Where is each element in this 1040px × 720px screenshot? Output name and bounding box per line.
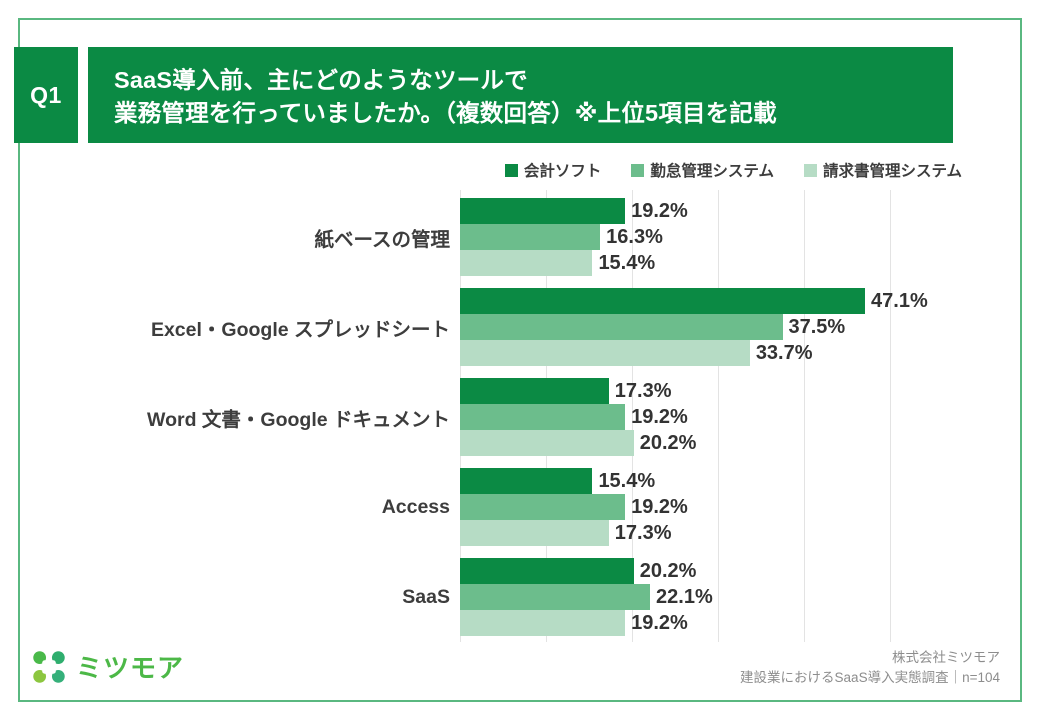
question-line-1: SaaS導入前、主にどのようなツールで (114, 64, 953, 97)
question-line-2: 業務管理を行っていましたか。（複数回答）※上位5項目を記載 (114, 97, 953, 130)
legend-label: 会計ソフト (524, 159, 602, 181)
bar-group: 19.2%16.3%15.4% (460, 198, 930, 276)
category-label: 紙ベースの管理 (314, 223, 450, 252)
bar-value-label: 20.2% (640, 432, 697, 455)
bar-group: 15.4%19.2%17.3% (460, 468, 930, 546)
legend-label: 請求書管理システム (823, 159, 962, 181)
category-label: Access (382, 496, 450, 519)
plot-area: 19.2%16.3%15.4%47.1%37.5%33.7%17.3%19.2%… (460, 190, 930, 642)
bar-row[interactable]: 19.2% (460, 198, 930, 224)
category-label-group: 紙ベースの管理 (60, 198, 450, 276)
bar[interactable] (460, 520, 609, 546)
legend-swatch-icon (505, 164, 518, 177)
chart-legend: 会計ソフト勤怠管理システム請求書管理システム (0, 159, 1040, 181)
bar-row[interactable]: 16.3% (460, 224, 930, 250)
category-label: SaaS (402, 586, 450, 609)
bar-row[interactable]: 20.2% (460, 430, 930, 456)
bar-row[interactable]: 15.4% (460, 250, 930, 276)
bar[interactable] (460, 468, 592, 494)
bar[interactable] (460, 198, 625, 224)
bar-value-label: 17.3% (615, 522, 672, 545)
category-axis-labels: 紙ベースの管理Excel・Google スプレッドシートWord 文書・Goog… (60, 190, 450, 642)
bar-value-label: 22.1% (656, 586, 713, 609)
bar-value-label: 19.2% (631, 612, 688, 635)
source-note: 株式会社ミツモア 建設業におけるSaaS導入実態調査｜n=104 (740, 648, 1000, 688)
legend-item[interactable]: 勤怠管理システム (631, 159, 774, 181)
bar[interactable] (460, 340, 750, 366)
bar-group: 47.1%37.5%33.7% (460, 288, 930, 366)
category-label: Excel・Google スプレッドシート (151, 313, 450, 342)
logo-wordmark: ミツモア (76, 648, 184, 685)
legend-label: 勤怠管理システム (650, 159, 774, 181)
company-logo: ミツモア (32, 648, 184, 685)
bar[interactable] (460, 610, 625, 636)
bar-value-label: 15.4% (598, 252, 655, 275)
bar-group: 17.3%19.2%20.2% (460, 378, 930, 456)
bar-row[interactable]: 37.5% (460, 314, 930, 340)
bar-row[interactable]: 22.1% (460, 584, 930, 610)
question-number-label: Q1 (30, 82, 62, 109)
category-label-group: Excel・Google スプレッドシート (60, 288, 450, 366)
bar-row[interactable]: 19.2% (460, 494, 930, 520)
legend-swatch-icon (804, 164, 817, 177)
question-title-box: SaaS導入前、主にどのようなツールで 業務管理を行っていましたか。（複数回答）… (88, 47, 953, 143)
bar-row[interactable]: 17.3% (460, 520, 930, 546)
bar[interactable] (460, 224, 600, 250)
bar-value-label: 33.7% (756, 342, 813, 365)
bar[interactable] (460, 430, 634, 456)
bar-value-label: 37.5% (789, 316, 846, 339)
category-label-group: Word 文書・Google ドキュメント (60, 378, 450, 456)
bar-row[interactable]: 19.2% (460, 404, 930, 430)
legend-item[interactable]: 請求書管理システム (804, 159, 962, 181)
bar[interactable] (460, 378, 609, 404)
source-company: 株式会社ミツモア (740, 648, 1000, 668)
bar-row[interactable]: 19.2% (460, 610, 930, 636)
category-label-group: SaaS (60, 558, 450, 636)
bar[interactable] (460, 288, 865, 314)
question-number-badge: Q1 (14, 47, 78, 143)
bar-group: 20.2%22.1%19.2% (460, 558, 930, 636)
bar-row[interactable]: 20.2% (460, 558, 930, 584)
bar[interactable] (460, 584, 650, 610)
source-survey: 建設業におけるSaaS導入実態調査｜n=104 (740, 668, 1000, 688)
bar[interactable] (460, 494, 625, 520)
bar-value-label: 20.2% (640, 560, 697, 583)
bar-value-label: 19.2% (631, 406, 688, 429)
bar-row[interactable]: 47.1% (460, 288, 930, 314)
bar-value-label: 47.1% (871, 290, 928, 313)
legend-item[interactable]: 会計ソフト (505, 159, 602, 181)
legend-swatch-icon (631, 164, 644, 177)
mitsumore-logo-icon (32, 650, 66, 684)
category-label-group: Access (60, 468, 450, 546)
bar[interactable] (460, 250, 592, 276)
category-label: Word 文書・Google ドキュメント (147, 403, 450, 432)
bar-row[interactable]: 15.4% (460, 468, 930, 494)
bar-value-label: 16.3% (606, 226, 663, 249)
bar-value-label: 19.2% (631, 200, 688, 223)
bar-row[interactable]: 33.7% (460, 340, 930, 366)
bar-chart: 紙ベースの管理Excel・Google スプレッドシートWord 文書・Goog… (0, 190, 1040, 645)
bar[interactable] (460, 558, 634, 584)
bar[interactable] (460, 404, 625, 430)
bar-value-label: 17.3% (615, 380, 672, 403)
bar-row[interactable]: 17.3% (460, 378, 930, 404)
bar-value-label: 19.2% (631, 496, 688, 519)
bar[interactable] (460, 314, 783, 340)
bar-value-label: 15.4% (598, 470, 655, 493)
